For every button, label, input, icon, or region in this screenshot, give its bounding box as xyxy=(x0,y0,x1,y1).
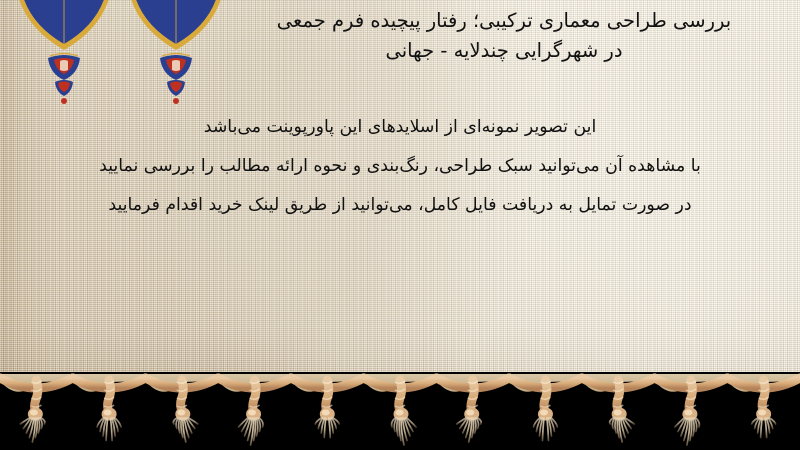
slide-body-text: این تصویر نمونه‌ای از اسلایدهای این پاور… xyxy=(18,108,782,225)
body-line-3: در صورت تمایل به دریافت فایل کامل، می‌تو… xyxy=(18,186,782,225)
carpet-fringe-tassels-icon xyxy=(0,372,800,450)
medallion-pendant-icon xyxy=(126,0,226,104)
title-line-2: در شهرگرایی چندلایه - جهانی xyxy=(224,36,784,66)
medallion-pendant-icon xyxy=(14,0,114,104)
slide-title: بررسی طراحی معماری ترکیبی؛ رفتار پیچیده … xyxy=(224,6,784,65)
body-line-2: با مشاهده آن می‌توانید سبک طراحی، رنگ‌بن… xyxy=(18,147,782,186)
presentation-slide: بررسی طراحی معماری ترکیبی؛ رفتار پیچیده … xyxy=(0,0,800,450)
persian-medallion-ornament-left xyxy=(14,0,114,108)
persian-medallion-ornament-right xyxy=(126,0,226,108)
title-line-1: بررسی طراحی معماری ترکیبی؛ رفتار پیچیده … xyxy=(224,6,784,36)
body-line-1: این تصویر نمونه‌ای از اسلایدهای این پاور… xyxy=(18,108,782,147)
carpet-fringe xyxy=(0,372,800,450)
